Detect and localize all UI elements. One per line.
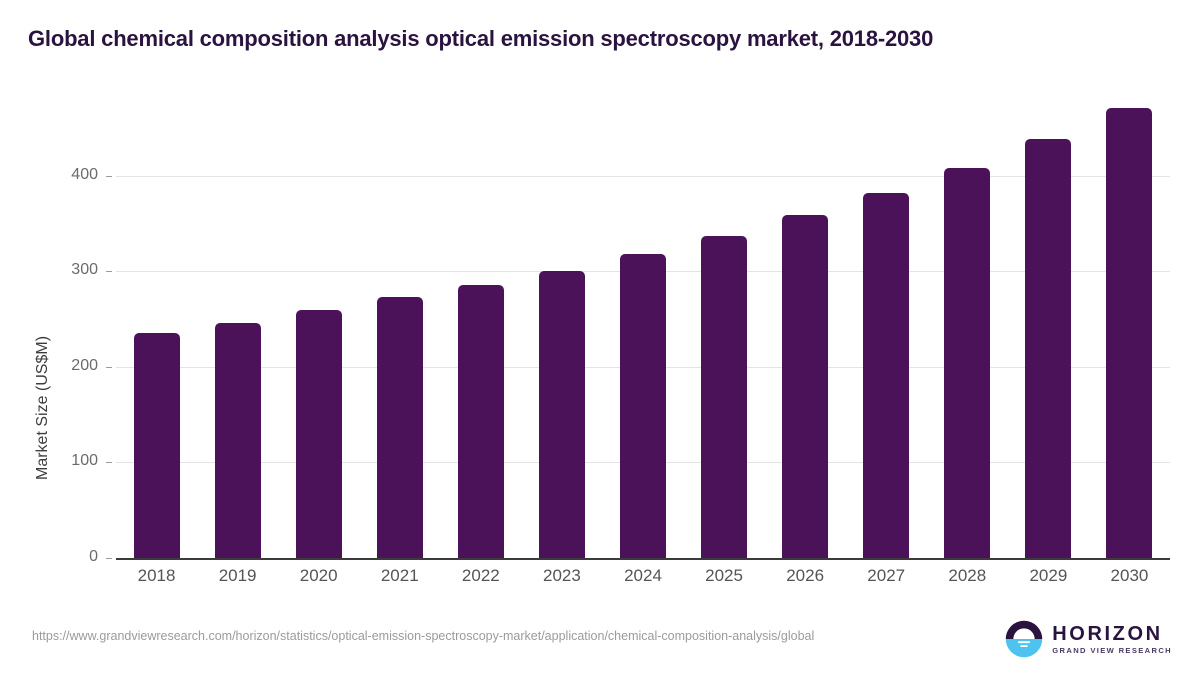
y-tick-label: 100 <box>71 452 98 470</box>
bar[interactable] <box>944 168 990 558</box>
page-title: Global chemical composition analysis opt… <box>28 26 933 52</box>
y-tick-label: 300 <box>71 261 98 279</box>
x-tick-label: 2025 <box>684 566 764 586</box>
bar[interactable] <box>1025 139 1071 558</box>
y-tick-label: 0 <box>89 548 98 566</box>
y-tick-mark <box>106 271 112 272</box>
bar[interactable] <box>1106 108 1152 558</box>
x-tick-label: 2029 <box>1008 566 1088 586</box>
plot-area <box>116 99 1170 558</box>
bar[interactable] <box>701 236 747 558</box>
y-tick-mark <box>106 176 112 177</box>
bar[interactable] <box>458 285 504 558</box>
bar[interactable] <box>134 333 180 558</box>
x-tick-label: 2026 <box>765 566 845 586</box>
x-tick-label: 2028 <box>927 566 1007 586</box>
x-tick-label: 2020 <box>279 566 359 586</box>
y-tick-mark <box>106 558 112 559</box>
bar[interactable] <box>377 297 423 558</box>
chart-card: Global chemical composition analysis opt… <box>0 0 1200 675</box>
x-axis-line <box>116 558 1170 560</box>
x-tick-label: 2030 <box>1089 566 1169 586</box>
bar[interactable] <box>215 323 261 558</box>
logo-text: HORIZON GRAND VIEW RESEARCH <box>1052 624 1172 655</box>
x-tick-label: 2021 <box>360 566 440 586</box>
horizon-logo[interactable]: HORIZON GRAND VIEW RESEARCH <box>1005 620 1172 658</box>
y-tick-mark <box>106 367 112 368</box>
x-tick-label: 2019 <box>198 566 278 586</box>
source-url[interactable]: https://www.grandviewresearch.com/horizo… <box>32 628 937 644</box>
x-tick-label: 2024 <box>603 566 683 586</box>
x-tick-label: 2027 <box>846 566 926 586</box>
x-tick-label: 2018 <box>117 566 197 586</box>
logo-wordmark: HORIZON <box>1052 624 1172 644</box>
bar[interactable] <box>620 254 666 558</box>
x-tick-label: 2022 <box>441 566 521 586</box>
y-tick-label: 200 <box>71 357 98 375</box>
bar[interactable] <box>296 310 342 558</box>
logo-tagline: GRAND VIEW RESEARCH <box>1052 647 1172 655</box>
bar[interactable] <box>782 215 828 558</box>
y-tick-label: 400 <box>71 166 98 184</box>
horizon-mark-icon <box>1005 620 1043 658</box>
y-tick-mark <box>106 462 112 463</box>
x-tick-label: 2023 <box>522 566 602 586</box>
bar[interactable] <box>863 193 909 558</box>
y-axis-title: Market Size (US$M) <box>34 336 52 480</box>
bar[interactable] <box>539 271 585 558</box>
